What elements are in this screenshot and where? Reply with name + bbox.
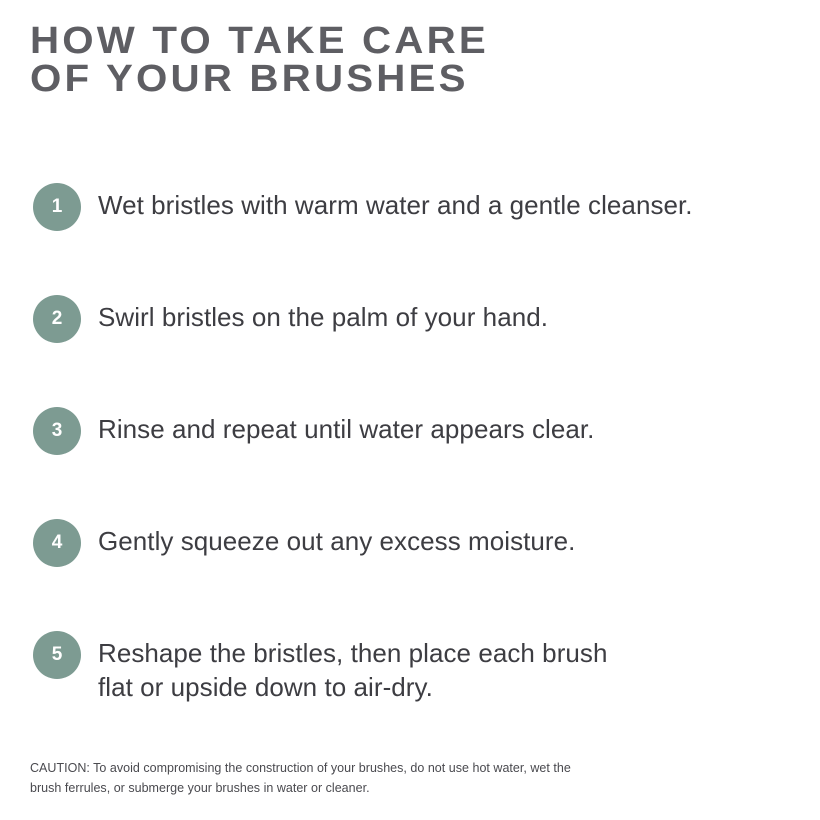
step-text-line: Gently squeeze out any excess moisture. [98, 524, 798, 558]
step-text-line: Rinse and repeat until water appears cle… [98, 412, 798, 446]
step-text: Reshape the bristles, then place each br… [98, 624, 798, 704]
list-item: 3 Rinse and repeat until water appears c… [0, 400, 820, 512]
instruction-card: HOW TO TAKE CARE OF YOUR BRUSHES 1 Wet b… [0, 0, 820, 820]
step-text: Wet bristles with warm water and a gentl… [98, 176, 798, 222]
page-title-line-1: HOW TO TAKE CARE [30, 22, 814, 60]
page-title: HOW TO TAKE CARE OF YOUR BRUSHES [30, 22, 770, 98]
list-item: 4 Gently squeeze out any excess moisture… [0, 512, 820, 624]
caution-note: CAUTION: To avoid compromising the const… [30, 758, 730, 798]
step-text: Swirl bristles on the palm of your hand. [98, 288, 798, 334]
caution-line-1: CAUTION: To avoid compromising the const… [30, 758, 730, 778]
step-text: Rinse and repeat until water appears cle… [98, 400, 798, 446]
step-number-badge: 4 [33, 519, 81, 567]
list-item: 1 Wet bristles with warm water and a gen… [0, 176, 820, 288]
step-text-line: Reshape the bristles, then place each br… [98, 636, 798, 670]
caution-line-2: brush ferrules, or submerge your brushes… [30, 778, 730, 798]
steps-list: 1 Wet bristles with warm water and a gen… [0, 176, 820, 744]
step-number-badge: 5 [33, 631, 81, 679]
step-text-line: Wet bristles with warm water and a gentl… [98, 188, 798, 222]
step-number-badge: 1 [33, 183, 81, 231]
step-text: Gently squeeze out any excess moisture. [98, 512, 798, 558]
list-item: 2 Swirl bristles on the palm of your han… [0, 288, 820, 400]
step-text-line: Swirl bristles on the palm of your hand. [98, 300, 798, 334]
step-number-badge: 2 [33, 295, 81, 343]
step-number-badge: 3 [33, 407, 81, 455]
list-item: 5 Reshape the bristles, then place each … [0, 624, 820, 744]
page-title-line-2: OF YOUR BRUSHES [30, 60, 814, 98]
step-text-line: flat or upside down to air-dry. [98, 670, 798, 704]
